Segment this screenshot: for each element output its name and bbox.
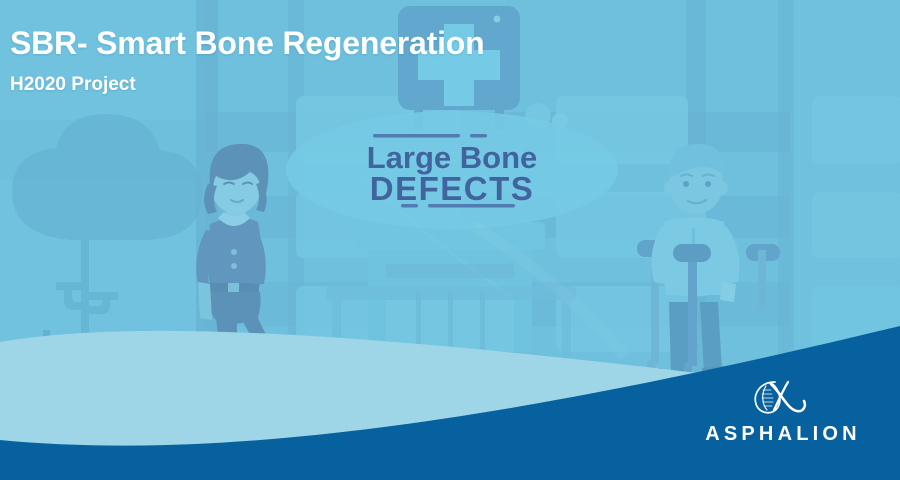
title-block: SBR- Smart Bone Regeneration H2020 Proje… [10, 26, 650, 96]
asphalion-logo[interactable]: ASPHALION [692, 376, 870, 444]
logo-wordmark: ASPHALION [692, 424, 870, 444]
project-banner: Large Bone DEFECTS SBR- Smart Bone Regen… [0, 0, 900, 480]
headline-oval [286, 111, 618, 229]
page-title: SBR- Smart Bone Regeneration [10, 26, 650, 61]
asphalion-alpha-mark [744, 376, 818, 420]
page-subtitle: H2020 Project [10, 75, 650, 96]
window-panels-far-right [812, 96, 900, 352]
